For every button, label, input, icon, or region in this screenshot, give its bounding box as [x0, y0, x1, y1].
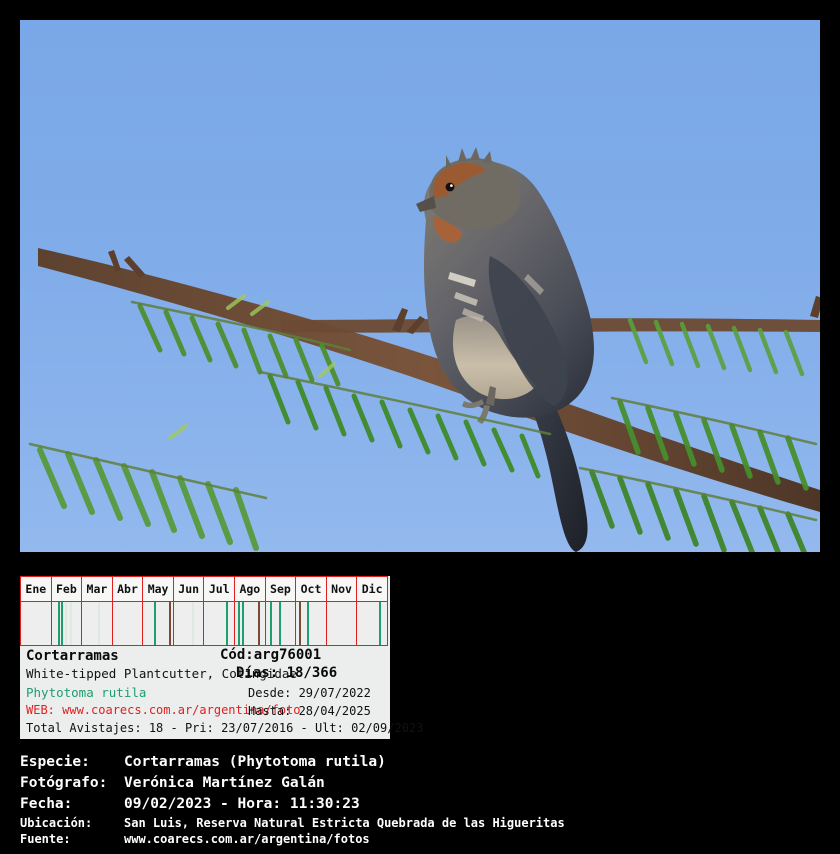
sighting-tick [65, 602, 67, 645]
species-code: Cód:arg76001 [220, 647, 590, 663]
calendar-cell-feb [52, 602, 83, 645]
monthly-sightings-calendar: Ene Feb Mar Abr May Jun Jul Ago Sep Oct … [20, 576, 388, 646]
species-info-panel: Ene Feb Mar Abr May Jun Jul Ago Sep Oct … [20, 576, 390, 739]
fuente-value[interactable]: www.coarecs.com.ar/argentina/fotos [124, 831, 370, 847]
calendar-cell-ago [235, 602, 266, 645]
calendar-month-ene: Ene [21, 577, 52, 601]
calendar-cell-mar [82, 602, 113, 645]
calendar-month-jul: Jul [204, 577, 235, 601]
calendar-header-row: Ene Feb Mar Abr May Jun Jul Ago Sep Oct … [21, 577, 387, 602]
caption-row-fotografo: Fotógrafo: Verónica Martínez Galán [20, 773, 820, 794]
fecha-label: Fecha: [20, 794, 124, 815]
sighting-tick [192, 602, 194, 645]
calendar-month-jun: Jun [174, 577, 205, 601]
fecha-value: 09/02/2023 - Hora: 11:30:23 [124, 794, 360, 815]
ubicacion-label: Ubicación: [20, 815, 124, 831]
caption-row-ubicacion: Ubicación: San Luis, Reserva Natural Est… [20, 815, 820, 831]
sighting-tick [98, 602, 100, 645]
photo-canvas [20, 20, 820, 552]
calendar-month-may: May [143, 577, 174, 601]
sighting-tick [307, 602, 309, 645]
caption-row-fuente: Fuente: www.coarecs.com.ar/argentina/fot… [20, 831, 820, 847]
ubicacion-value: San Luis, Reserva Natural Estricta Quebr… [124, 815, 565, 831]
sighting-tick [154, 602, 156, 645]
calendar-cell-dic [357, 602, 387, 645]
sighting-tick [242, 602, 244, 645]
calendar-month-ago: Ago [235, 577, 266, 601]
sighting-tick [70, 602, 72, 645]
especie-value: Cortarramas (Phytotoma rutila) [124, 752, 386, 773]
calendar-cell-may [143, 602, 174, 645]
sighting-tick [226, 602, 228, 645]
calendar-cell-abr [113, 602, 144, 645]
sighting-tick [169, 602, 171, 645]
calendar-month-abr: Abr [113, 577, 144, 601]
sighting-tick [238, 602, 240, 645]
fotografo-value: Verónica Martínez Galán [124, 773, 325, 794]
caption-row-fecha: Fecha: 09/02/2023 - Hora: 11:30:23 [20, 794, 820, 815]
especie-label: Especie: [20, 752, 124, 773]
sighting-tick [258, 602, 260, 645]
caption-row-especie: Especie: Cortarramas (Phytotoma rutila) [20, 752, 820, 773]
sighting-tick [279, 602, 281, 645]
sighting-tick [299, 602, 301, 645]
fotografo-label: Fotógrafo: [20, 773, 124, 794]
calendar-cell-jul [204, 602, 235, 645]
bird-photograph [20, 20, 820, 552]
calendar-cell-jun [174, 602, 205, 645]
calendar-month-feb: Feb [52, 577, 83, 601]
calendar-month-dic: Dic [357, 577, 387, 601]
calendar-month-oct: Oct [296, 577, 327, 601]
fuente-label: Fuente: [20, 831, 124, 847]
date-to: Hasta: 28/04/2025 [248, 704, 618, 718]
calendar-cell-sep [266, 602, 297, 645]
calendar-month-mar: Mar [82, 577, 113, 601]
calendar-cell-ene [21, 602, 52, 645]
calendar-cell-nov [327, 602, 358, 645]
date-from: Desde: 29/07/2022 [248, 686, 618, 700]
total-sightings: Total Avistajes: 18 - Pri: 23/07/2016 - … [26, 721, 396, 735]
calendar-month-sep: Sep [266, 577, 297, 601]
caption-block: Especie: Cortarramas (Phytotoma rutila) … [20, 752, 820, 847]
calendar-month-nov: Nov [327, 577, 358, 601]
days-counter: Días: 18/366 [236, 665, 606, 681]
calendar-cell-oct [296, 602, 327, 645]
sighting-tick [379, 602, 381, 645]
sighting-tick [61, 602, 63, 645]
sighting-tick [58, 602, 60, 645]
calendar-tick-row [21, 602, 387, 645]
sighting-tick [270, 602, 272, 645]
